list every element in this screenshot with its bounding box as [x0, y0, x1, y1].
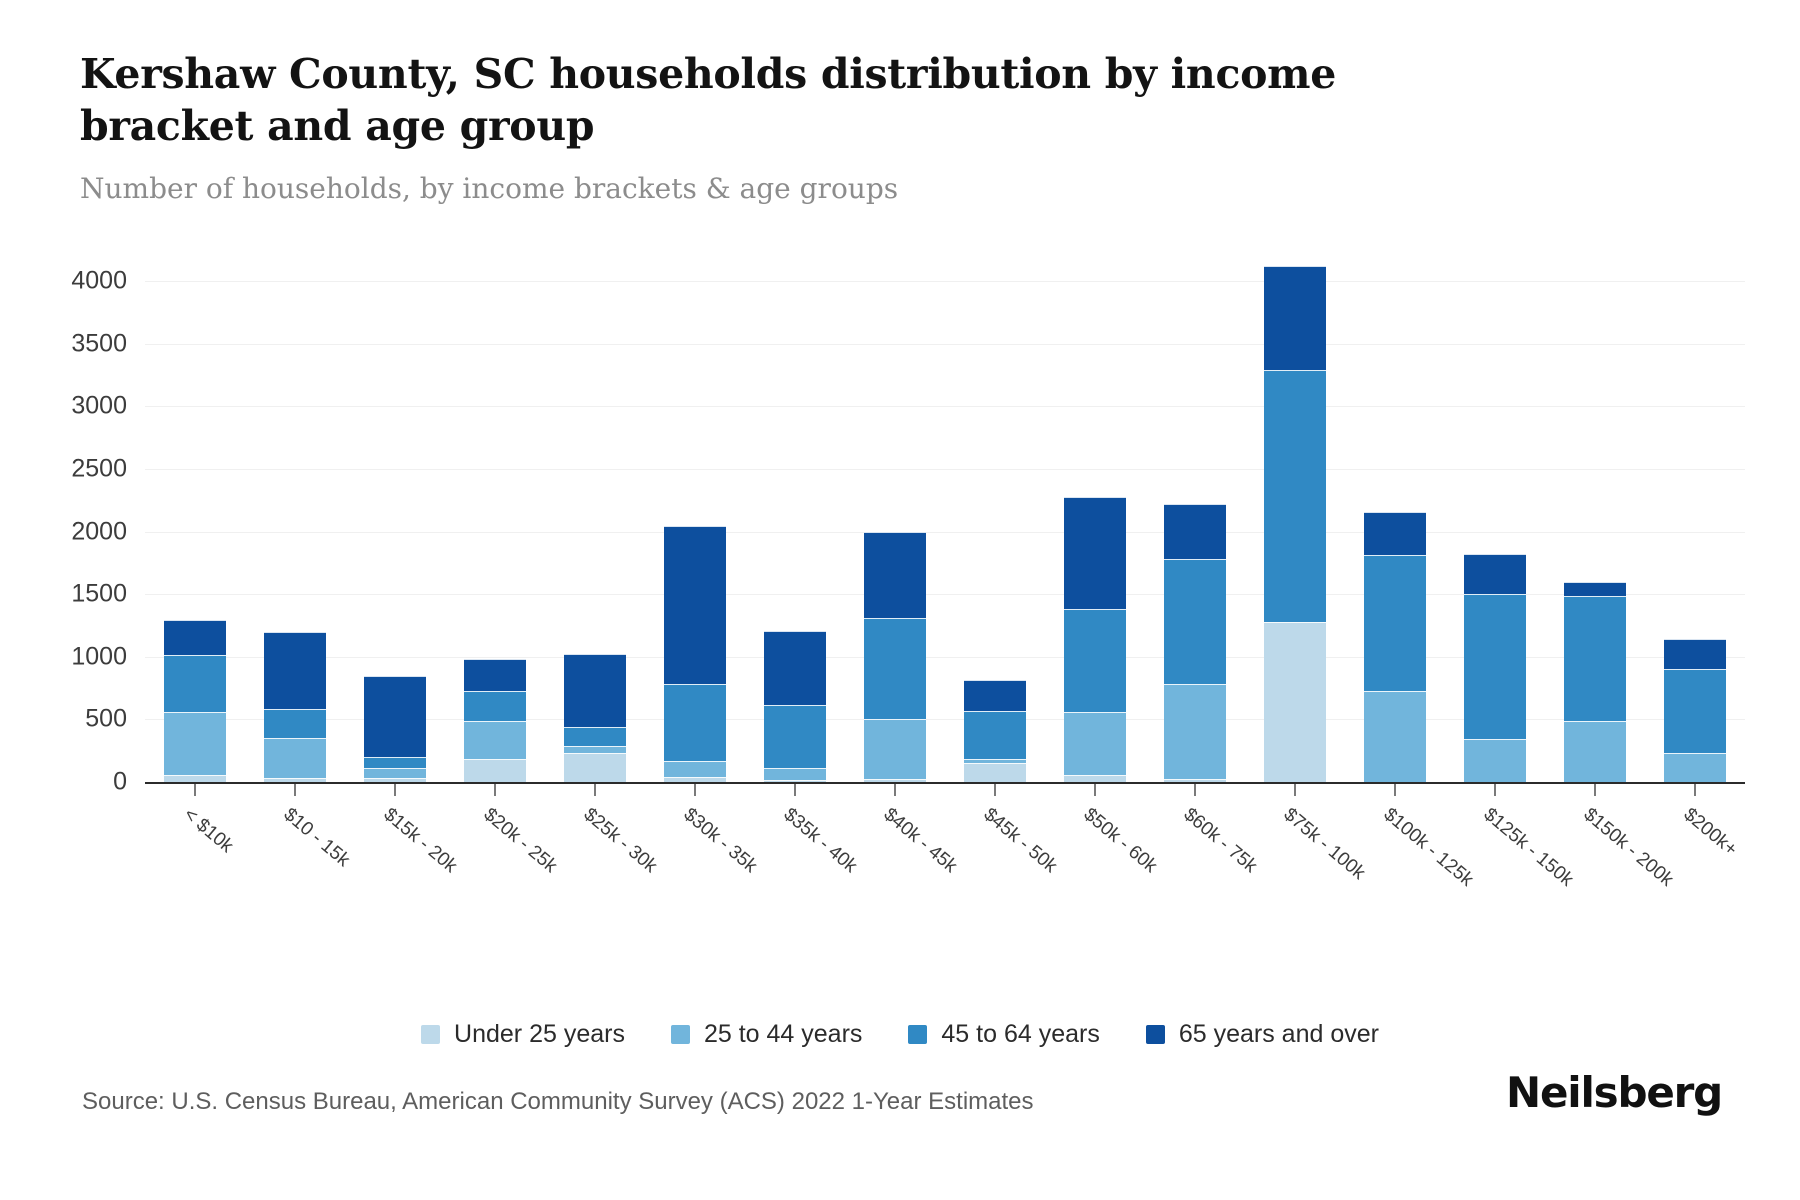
page-title: Kershaw County, SC households distributi…: [80, 48, 1500, 153]
bar-segment[interactable]: [1664, 669, 1726, 753]
legend-swatch-icon: [421, 1025, 440, 1044]
legend-swatch-icon: [1146, 1025, 1165, 1044]
bar-stack[interactable]: [1564, 582, 1626, 782]
bar-stack[interactable]: [1464, 554, 1526, 782]
bar-segment[interactable]: [1164, 559, 1226, 684]
y-axis-tick-label: 1000: [71, 642, 127, 671]
x-axis-label-cell: $25k - 30k: [545, 798, 645, 918]
bar-segment[interactable]: [764, 768, 826, 780]
bar-segment[interactable]: [364, 768, 426, 778]
bar-stack[interactable]: [564, 654, 626, 782]
y-axis: 05001000150020002500300035004000: [0, 250, 145, 770]
x-axis-tickmark-cell: [645, 784, 745, 796]
x-axis-label-cell: $15k - 20k: [345, 798, 445, 918]
x-axis-tickmark-cell: [1245, 784, 1345, 796]
bar-segment[interactable]: [1164, 779, 1226, 782]
x-axis-tickmark-cell: [1645, 784, 1745, 796]
x-axis-labels: < $10k$10 - 15k$15k - 20k$20k - 25k$25k …: [145, 798, 1745, 918]
x-axis-tickmark-cell: [1445, 784, 1545, 796]
bar-stack[interactable]: [764, 631, 826, 782]
bar-column[interactable]: [345, 250, 445, 782]
bar-segment[interactable]: [164, 775, 226, 782]
bar-segment[interactable]: [464, 659, 526, 691]
y-axis-tick-label: 2500: [71, 455, 127, 484]
bar-segment[interactable]: [764, 780, 826, 783]
x-axis-tick-label: < $10k: [179, 804, 237, 858]
x-axis-tickmark-cell: [745, 784, 845, 796]
x-axis-tickmark: [994, 784, 996, 796]
bar-segment[interactable]: [264, 738, 326, 778]
bar-segment[interactable]: [364, 778, 426, 782]
bar-stack[interactable]: [1664, 639, 1726, 782]
bar-stack[interactable]: [364, 676, 426, 782]
x-axis-tickmarks: [145, 784, 1745, 796]
bar-column[interactable]: [1245, 250, 1345, 782]
x-axis-tickmark: [394, 784, 396, 796]
bar-segment[interactable]: [164, 620, 226, 655]
y-axis-tick-label: 3000: [71, 392, 127, 421]
x-axis-label-cell: $150k - 200k: [1545, 798, 1645, 918]
bar-stack[interactable]: [1164, 504, 1226, 782]
y-axis-tick-label: 0: [113, 768, 127, 797]
bar-segment[interactable]: [164, 712, 226, 775]
bar-segment[interactable]: [1464, 739, 1526, 782]
legend-item[interactable]: 45 to 64 years: [908, 1020, 1099, 1049]
bar-stack[interactable]: [464, 659, 526, 782]
x-axis-label-cell: $20k - 25k: [445, 798, 545, 918]
legend-item[interactable]: 25 to 44 years: [671, 1020, 862, 1049]
x-axis-tickmark: [1494, 784, 1496, 796]
y-axis-tick-label: 2000: [71, 517, 127, 546]
bar-segment[interactable]: [1264, 622, 1326, 782]
bar-column[interactable]: [745, 250, 845, 782]
bar-column[interactable]: [845, 250, 945, 782]
bar-segment[interactable]: [564, 753, 626, 782]
bar-segment[interactable]: [664, 526, 726, 684]
bar-segment[interactable]: [1564, 721, 1626, 782]
legend-label: 25 to 44 years: [704, 1020, 862, 1049]
x-axis-tickmark-cell: [545, 784, 645, 796]
bar-segment[interactable]: [1064, 609, 1126, 712]
plot-area: 05001000150020002500300035004000 < $10k$…: [0, 250, 1800, 810]
x-axis-tickmark-cell: [1345, 784, 1445, 796]
x-axis-tickmark: [494, 784, 496, 796]
x-axis-label-cell: $10 - 15k: [245, 798, 345, 918]
x-axis-tickmark: [194, 784, 196, 796]
bar-stack[interactable]: [664, 526, 726, 782]
chart-subtitle: Number of households, by income brackets…: [80, 171, 1720, 207]
bar-segment[interactable]: [1064, 497, 1126, 609]
x-axis-label-cell: $75k - 100k: [1245, 798, 1345, 918]
x-axis-tickmark-cell: [445, 784, 545, 796]
bar-column[interactable]: [945, 250, 1045, 782]
x-axis-tickmark: [294, 784, 296, 796]
bar-segment[interactable]: [1064, 775, 1126, 783]
x-axis-tickmark-cell: [845, 784, 945, 796]
bar-column[interactable]: [1445, 250, 1545, 782]
x-axis-tickmark: [1194, 784, 1196, 796]
bar-segment[interactable]: [864, 618, 926, 719]
bar-segment[interactable]: [1164, 504, 1226, 559]
bar-segment[interactable]: [1664, 639, 1726, 669]
x-axis-label-cell: $200k+: [1645, 798, 1745, 918]
legend-swatch-icon: [908, 1025, 927, 1044]
bar-column[interactable]: [445, 250, 545, 782]
x-axis-tickmark-cell: [1545, 784, 1645, 796]
legend-label: 65 years and over: [1179, 1020, 1379, 1049]
x-axis-tickmark-cell: [1045, 784, 1145, 796]
x-axis-label-cell: $125k - 150k: [1445, 798, 1545, 918]
bar-segment[interactable]: [264, 709, 326, 738]
bar-segment[interactable]: [464, 759, 526, 782]
x-axis-tickmark: [1594, 784, 1596, 796]
bar-segment[interactable]: [564, 746, 626, 753]
bar-column[interactable]: [245, 250, 345, 782]
bar-segment[interactable]: [464, 691, 526, 721]
x-axis-tickmark: [1294, 784, 1296, 796]
bar-segment[interactable]: [1464, 594, 1526, 739]
x-axis-label-cell: < $10k: [145, 798, 245, 918]
legend-label: 45 to 64 years: [941, 1020, 1099, 1049]
x-axis-tickmark: [894, 784, 896, 796]
bar-segment[interactable]: [864, 532, 926, 618]
bar-segment[interactable]: [1064, 712, 1126, 775]
bar-segment[interactable]: [1464, 554, 1526, 594]
x-axis-label-cell: $35k - 40k: [745, 798, 845, 918]
y-axis-tick-label: 1500: [71, 580, 127, 609]
bar-column[interactable]: [1045, 250, 1145, 782]
bar-segment[interactable]: [864, 719, 926, 778]
bar-stack[interactable]: [264, 632, 326, 782]
x-axis-label-cell: $50k - 60k: [1045, 798, 1145, 918]
chart-page: Kershaw County, SC households distributi…: [0, 0, 1800, 1200]
x-axis-tickmark-cell: [145, 784, 245, 796]
bar-column[interactable]: [1545, 250, 1645, 782]
bar-segment[interactable]: [364, 757, 426, 768]
bar-segment[interactable]: [764, 705, 826, 768]
bar-column[interactable]: [1345, 250, 1445, 782]
x-axis-tickmark-cell: [345, 784, 445, 796]
x-axis-label-cell: $40k - 45k: [845, 798, 945, 918]
bar-column[interactable]: [145, 250, 245, 782]
x-axis-tick-label: $200k+: [1679, 804, 1741, 861]
bar-segment[interactable]: [1364, 512, 1426, 555]
bar-column[interactable]: [545, 250, 645, 782]
bar-stack[interactable]: [1064, 497, 1126, 782]
bar-stack[interactable]: [864, 532, 926, 782]
x-axis-label-cell: $30k - 35k: [645, 798, 745, 918]
y-axis-tick-label: 3500: [71, 329, 127, 358]
x-axis-tickmark: [794, 784, 796, 796]
chart-legend: Under 25 years25 to 44 years45 to 64 yea…: [0, 1020, 1800, 1049]
x-axis-tickmark: [1094, 784, 1096, 796]
bar-segment[interactable]: [664, 777, 726, 782]
source-note: Source: U.S. Census Bureau, American Com…: [82, 1088, 1034, 1116]
bar-segment[interactable]: [364, 676, 426, 757]
legend-label: Under 25 years: [454, 1020, 625, 1049]
bar-segment[interactable]: [964, 711, 1026, 760]
x-axis-tickmark: [1394, 784, 1396, 796]
bar-segment[interactable]: [1264, 370, 1326, 622]
bar-segment[interactable]: [464, 721, 526, 759]
bar-segment[interactable]: [264, 632, 326, 709]
bar-segment[interactable]: [1364, 555, 1426, 691]
bar-segment[interactable]: [964, 680, 1026, 711]
legend-item[interactable]: Under 25 years: [421, 1020, 625, 1049]
bar-segment[interactable]: [764, 631, 826, 705]
legend-item[interactable]: 65 years and over: [1146, 1020, 1379, 1049]
bar-segment[interactable]: [664, 684, 726, 761]
bar-column[interactable]: [1645, 250, 1745, 782]
bar-segment[interactable]: [564, 727, 626, 746]
brand-logo: Neilsberg: [1506, 1068, 1722, 1117]
x-axis-label-cell: $45k - 50k: [945, 798, 1045, 918]
bar-segment[interactable]: [1364, 691, 1426, 782]
bar-segment[interactable]: [664, 761, 726, 777]
bar-segment[interactable]: [1264, 266, 1326, 370]
bar-segment[interactable]: [1164, 684, 1226, 779]
bar-segment[interactable]: [264, 778, 326, 782]
x-axis-tickmark: [594, 784, 596, 796]
bar-segment[interactable]: [1664, 753, 1726, 782]
x-axis-tickmark-cell: [245, 784, 345, 796]
bar-segment[interactable]: [164, 655, 226, 712]
x-axis-label-cell: $60k - 75k: [1145, 798, 1245, 918]
y-axis-tick-label: 4000: [71, 267, 127, 296]
bar-column[interactable]: [645, 250, 745, 782]
bar-stack[interactable]: [1364, 512, 1426, 782]
legend-swatch-icon: [671, 1025, 690, 1044]
bar-segment[interactable]: [964, 763, 1026, 782]
x-axis-tickmark: [694, 784, 696, 796]
x-axis-tickmark-cell: [1145, 784, 1245, 796]
x-axis-tickmark: [1694, 784, 1696, 796]
chart-header: Kershaw County, SC households distributi…: [80, 48, 1720, 207]
bar-column[interactable]: [1145, 250, 1245, 782]
bar-segment[interactable]: [564, 654, 626, 727]
x-axis-tickmark-cell: [945, 784, 1045, 796]
bar-stack[interactable]: [964, 680, 1026, 782]
bar-segment[interactable]: [1564, 582, 1626, 596]
bar-segment[interactable]: [1564, 596, 1626, 721]
y-axis-tick-label: 500: [85, 705, 127, 734]
x-axis-label-cell: $100k - 125k: [1345, 798, 1445, 918]
x-axis-tick-label: $10 - 15k: [279, 804, 354, 872]
bar-stack[interactable]: [164, 620, 226, 782]
bar-stack[interactable]: [1264, 266, 1326, 782]
bar-series-group: [145, 250, 1745, 782]
bar-segment[interactable]: [864, 779, 926, 782]
